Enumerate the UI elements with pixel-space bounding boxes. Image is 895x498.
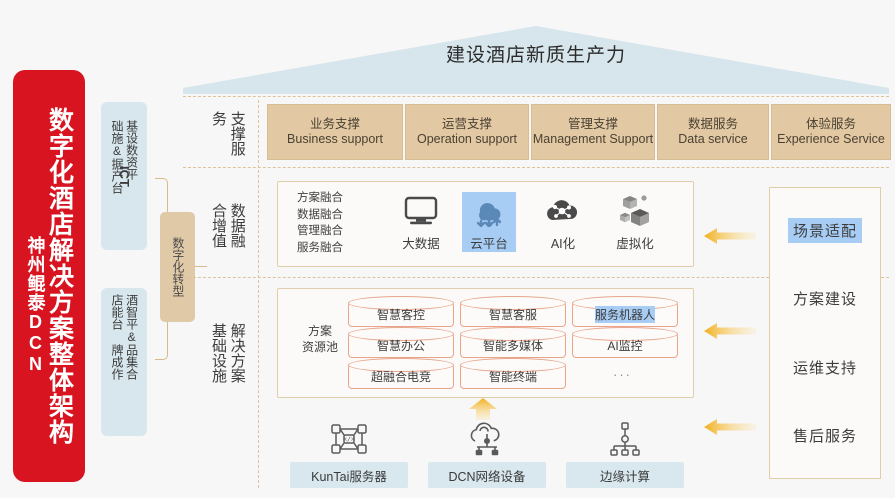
up-arrow-icon	[466, 398, 500, 420]
support-card-operation[interactable]: 运营支撑 Operation support	[405, 104, 529, 160]
pool-item-service-robot[interactable]: 服务机器人	[572, 302, 678, 327]
pool-item-hci-esports[interactable]: 超融合电竞	[348, 364, 454, 389]
service-lifecycle-panel: 场景适配 方案建设 运维支持 售后服务	[769, 187, 881, 479]
resource-pool-label-line1: 方案	[293, 323, 347, 339]
support-card-en: Management Support	[533, 132, 653, 147]
pool-item-label: 智能终端	[489, 368, 537, 385]
fusion-item-bigdata[interactable]: 大数据	[390, 192, 452, 252]
separator-top	[183, 96, 889, 97]
separator-vertical-labels	[258, 100, 259, 488]
cloud-sync-icon	[470, 192, 508, 230]
fusion-text-line: 服务融合	[297, 240, 343, 257]
pool-more-ellipsis: ···	[613, 367, 632, 382]
pool-item-label: 智慧客服	[489, 306, 537, 323]
resource-pool-label-line2: 资源池	[293, 339, 347, 355]
server-mesh-icon: </>	[329, 420, 369, 458]
infra-item-kuntai[interactable]: </> KunTai服务器	[290, 420, 408, 488]
architecture-diagram: 数字化酒店解决方案整体架构 神州鲲泰DCN ICT 基设数资平 础施&据产台 酒…	[0, 0, 895, 498]
fusion-item-caption: 虚拟化	[616, 233, 654, 252]
infra-item-edge[interactable]: 边缘计算	[566, 420, 684, 488]
monitor-icon	[404, 192, 438, 230]
pool-item-ai-monitor[interactable]: AI监控	[572, 333, 678, 358]
pillar-hotel-col-left: 店能台 牌成作	[109, 294, 124, 380]
support-card-en: Data service	[678, 132, 747, 147]
pillar-ict-col-right: 基设数资平	[124, 120, 139, 180]
infra-item-dcn[interactable]: DCN网络设备	[428, 420, 546, 488]
fusion-item-ai[interactable]: AI化	[532, 192, 594, 252]
pillar-hotel-text: 酒智平&品集合 店能台 牌成作	[101, 294, 147, 430]
row-label-support: 支撑服务	[198, 105, 256, 163]
pool-item-smart-control[interactable]: 智慧客控	[348, 302, 454, 327]
separator-support-fusion	[183, 167, 889, 168]
left-arrow-icon-3	[704, 418, 756, 436]
fusion-text-block: 方案融合 数据融合 管理融合 服务融合	[297, 190, 343, 257]
infra-item-caption: KunTai服务器	[290, 462, 408, 488]
row-label-solution: 解决方案基础设施	[198, 300, 256, 410]
support-card-data[interactable]: 数据服务 Data service	[657, 104, 769, 160]
pool-item-smart-office[interactable]: 智慧办公	[348, 333, 454, 358]
support-card-management[interactable]: 管理支撑 Management Support	[531, 104, 655, 160]
left-arrow-icon-1	[704, 227, 756, 245]
support-card-en: Experience Service	[777, 132, 885, 147]
title-banner: 数字化酒店解决方案整体架构 神州鲲泰DCN	[13, 70, 85, 482]
lifecycle-item-solution-build[interactable]: 方案建设	[788, 286, 862, 311]
network-cloud-icon	[466, 420, 508, 458]
fusion-text-line: 方案融合	[297, 190, 343, 207]
support-card-business[interactable]: 业务支撑 Business support	[267, 104, 403, 160]
lifecycle-item-after-sales[interactable]: 售后服务	[788, 423, 862, 448]
roof-title: 建设酒店新质生产力	[183, 40, 889, 67]
lifecycle-item-scene-adaptation[interactable]: 场景适配	[788, 218, 862, 243]
fusion-item-caption: 大数据	[402, 233, 440, 252]
pool-item-smart-terminal[interactable]: 智能终端	[460, 364, 566, 389]
support-card-cn: 管理支撑	[568, 117, 618, 132]
support-card-cn: 业务支撑	[310, 117, 360, 132]
pool-item-smart-service[interactable]: 智慧客服	[460, 302, 566, 327]
left-arrow-icon-2	[704, 322, 756, 340]
pool-item-label: 超融合电竞	[371, 368, 431, 385]
svg-text:</>: </>	[343, 435, 355, 443]
infra-item-caption: 边缘计算	[566, 462, 684, 488]
pillar-hotel-col-right: 酒智平&品集合	[124, 294, 139, 380]
pillar-ict-col-left: 础施&据产台	[109, 120, 124, 194]
fusion-item-caption: AI化	[551, 233, 575, 252]
cubes-icon	[617, 192, 653, 230]
pool-item-multimedia[interactable]: 智能多媒体	[460, 333, 566, 358]
fusion-text-line: 管理融合	[297, 223, 343, 240]
support-card-cn: 体验服务	[806, 117, 856, 132]
support-card-cn: 数据服务	[688, 117, 738, 132]
fusion-item-virtualization[interactable]: 虚拟化	[604, 192, 666, 252]
lifecycle-item-ops-support[interactable]: 运维支持	[788, 355, 862, 380]
support-card-experience[interactable]: 体验服务 Experience Service	[771, 104, 891, 160]
support-card-en: Business support	[287, 132, 383, 147]
pool-item-label: AI监控	[607, 337, 642, 354]
digital-transformation-box: 数字化转型	[160, 212, 195, 322]
pool-item-label: 智慧客控	[377, 306, 425, 323]
pillar-ict-text: 基设数资平 础施&据产台	[101, 120, 147, 248]
row-label-fusion: 数据融合增值	[198, 190, 256, 262]
fusion-text-line: 数据融合	[297, 207, 343, 224]
pool-item-label: 智能多媒体	[483, 337, 543, 354]
infra-item-caption: DCN网络设备	[428, 462, 546, 488]
pool-item-label: 智慧办公	[377, 337, 425, 354]
banner-main-title: 数字化酒店解决方案整体架构	[47, 107, 72, 445]
resource-pool-label: 方案 资源池	[293, 323, 347, 355]
digital-transformation-label: 数字化转型	[170, 237, 185, 297]
pool-item-label: 服务机器人	[595, 306, 655, 323]
transform-connector	[195, 266, 207, 267]
fusion-item-caption: 云平台	[470, 233, 508, 252]
edge-node-icon	[607, 420, 643, 458]
ai-cloud-icon	[544, 192, 582, 230]
support-card-en: Operation support	[417, 132, 517, 147]
support-card-cn: 运营支撑	[442, 117, 492, 132]
fusion-item-cloud[interactable]: 云平台	[462, 192, 516, 252]
banner-sub-title: 神州鲲泰DCN	[27, 236, 45, 375]
